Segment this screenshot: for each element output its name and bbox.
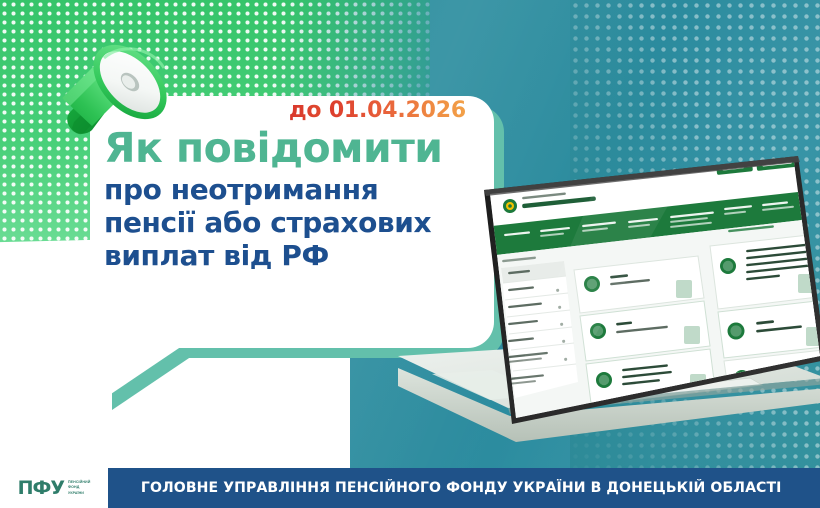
- headline-line-2: про неотримання: [104, 173, 484, 206]
- headline-line-4: виплат від РФ: [104, 239, 484, 272]
- deadline-prefix: до: [289, 98, 321, 123]
- poster-canvas: до 01.04.2026 Як повідомити про неотрима…: [0, 0, 820, 508]
- headline-line-3: пенсії або страхових: [104, 206, 484, 239]
- pfu-logo: ПФУ ПЕНСІЙНИЙ ФОНД УКРАЇНИ: [0, 468, 108, 508]
- bottom-banner: ПФУ ПЕНСІЙНИЙ ФОНД УКРАЇНИ ГОЛОВНЕ УПРАВ…: [0, 468, 820, 508]
- speech-bubble-tail: [102, 342, 188, 400]
- banner-title: ГОЛОВНЕ УПРАВЛІННЯ ПЕНСІЙНОГО ФОНДУ УКРА…: [141, 480, 782, 496]
- service-card: [710, 234, 820, 309]
- pfu-emblem-icon: [503, 199, 517, 213]
- pfu-logo-sub-line-3: УКРАЇНИ: [68, 491, 90, 496]
- deadline-value: 01.04.2026: [329, 98, 466, 123]
- megaphone-icon: [52, 34, 180, 156]
- pfu-logo-mark: ПФУ: [18, 479, 64, 498]
- banner-title-bar: ГОЛОВНЕ УПРАВЛІННЯ ПЕНСІЙНОГО ФОНДУ УКРА…: [108, 468, 820, 508]
- pfu-logo-subtext: ПЕНСІЙНИЙ ФОНД УКРАЇНИ: [68, 480, 90, 496]
- headline-subtitle: про неотримання пенсії або страхових вип…: [104, 173, 484, 272]
